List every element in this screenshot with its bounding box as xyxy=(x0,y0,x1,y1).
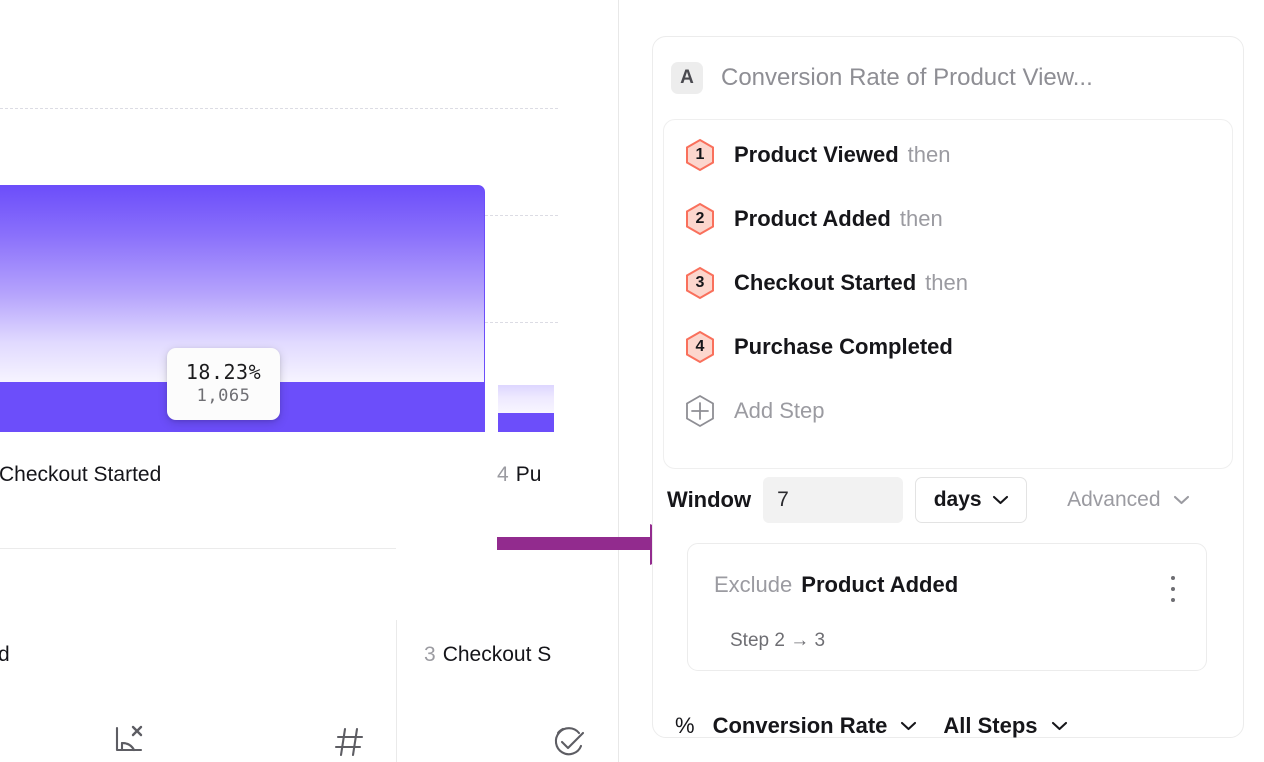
tooltip-count: 1,065 xyxy=(197,384,251,409)
exclude-prefix-label: Exclude xyxy=(714,572,792,598)
query-builder-card: A Conversion Rate of Product View... 1 P… xyxy=(652,36,1244,738)
chevron-down-icon xyxy=(900,721,917,731)
metric-label: Conversion Rate xyxy=(713,713,888,739)
menu-dot xyxy=(1171,598,1175,602)
step-number: 4 xyxy=(696,338,705,356)
metric-select[interactable]: Conversion Rate xyxy=(713,713,918,739)
query-header: A Conversion Rate of Product View... xyxy=(653,37,1243,119)
conversion-window-row: Window days Advanced xyxy=(667,477,1190,523)
chevron-down-icon xyxy=(1051,721,1068,731)
lower-label-step-number: 3 xyxy=(424,643,436,666)
step-then-label: then xyxy=(900,206,943,232)
x-axis-label-purchase-completed: 4Pu xyxy=(497,463,541,487)
percent-symbol-icon: % xyxy=(675,713,695,739)
chevron-down-icon xyxy=(1173,495,1190,505)
query-title[interactable]: Conversion Rate of Product View... xyxy=(721,64,1093,92)
funnel-bar-purchase-completed[interactable] xyxy=(498,385,554,413)
funnel-step-3[interactable]: 3 Checkout Started then xyxy=(684,266,968,300)
window-unit-label: days xyxy=(934,488,982,512)
exclude-event-name: Product Added xyxy=(801,572,958,598)
advanced-label: Advanced xyxy=(1067,488,1160,512)
funnel-steps-card: 1 Product Viewed then 2 Product Added th… xyxy=(663,119,1233,469)
chart-tooltip: 18.23% 1,065 xyxy=(167,348,280,420)
funnel-step-4[interactable]: 4 Purchase Completed xyxy=(684,330,962,364)
lower-label-right: 3Checkout S xyxy=(424,643,551,667)
step-event-name: Purchase Completed xyxy=(734,334,953,360)
step-number: 1 xyxy=(696,146,705,164)
step-number-hexagon-icon: 3 xyxy=(684,266,716,300)
x-axis-step-number: 4 xyxy=(497,463,509,486)
advanced-options-button[interactable]: Advanced xyxy=(1067,488,1189,512)
exclude-overflow-menu-icon[interactable] xyxy=(1162,576,1184,602)
plus-hexagon-icon xyxy=(684,394,716,428)
step-event-name: Product Viewed xyxy=(734,142,899,168)
step-number-hexagon-icon: 2 xyxy=(684,202,716,236)
menu-dot xyxy=(1171,576,1175,580)
add-step-label: Add Step xyxy=(734,398,825,424)
step-number-hexagon-icon: 1 xyxy=(684,138,716,172)
hash-icon[interactable] xyxy=(330,722,370,762)
x-axis-label-checkout-started: Checkout Started xyxy=(0,463,161,487)
scope-select[interactable]: All Steps xyxy=(943,713,1067,739)
add-step-button[interactable]: Add Step xyxy=(684,394,825,428)
chart-percent-icon[interactable] xyxy=(110,722,150,762)
exclude-rule-card[interactable]: Exclude Product Added Step 2 → 3 xyxy=(687,543,1207,671)
lower-label-left: d xyxy=(0,643,10,667)
funnel-bar-base-purchase-completed[interactable] xyxy=(498,413,554,432)
panel-divider-vertical xyxy=(396,620,397,762)
step-then-label: then xyxy=(908,142,951,168)
x-axis-label-text: Checkout Started xyxy=(0,463,161,486)
chevron-down-icon xyxy=(992,495,1009,505)
step-event-name: Product Added xyxy=(734,206,891,232)
x-axis-label-text: Pu xyxy=(516,463,542,486)
window-value-input[interactable] xyxy=(763,477,903,523)
step-then-label: then xyxy=(925,270,968,296)
exclude-step-range: Step 2 → 3 xyxy=(730,630,825,652)
window-label: Window xyxy=(667,487,751,513)
circle-check-icon[interactable] xyxy=(549,722,589,762)
tooltip-percent: 18.23% xyxy=(186,360,261,384)
lower-label-text: Checkout S xyxy=(443,643,552,666)
chart-gridline xyxy=(0,108,558,109)
funnel-step-2[interactable]: 2 Product Added then xyxy=(684,202,943,236)
step-event-name: Checkout Started xyxy=(734,270,916,296)
step-number-hexagon-icon: 4 xyxy=(684,330,716,364)
panel-vertical-divider xyxy=(618,0,619,762)
menu-dot xyxy=(1171,587,1175,591)
step-number: 3 xyxy=(696,274,705,292)
panel-divider xyxy=(0,548,396,549)
step-number: 2 xyxy=(696,210,705,228)
window-unit-select[interactable]: days xyxy=(915,477,1027,523)
funnel-chart-panel: 18.23% 1,065 Checkout Started 4Pu d 3Che… xyxy=(0,0,618,762)
query-footer: % Conversion Rate All Steps xyxy=(675,713,1068,739)
funnel-step-1[interactable]: 1 Product Viewed then xyxy=(684,138,950,172)
scope-label: All Steps xyxy=(943,713,1037,739)
exclude-rule-title: Exclude Product Added xyxy=(714,572,958,598)
query-letter-badge: A xyxy=(671,62,703,94)
